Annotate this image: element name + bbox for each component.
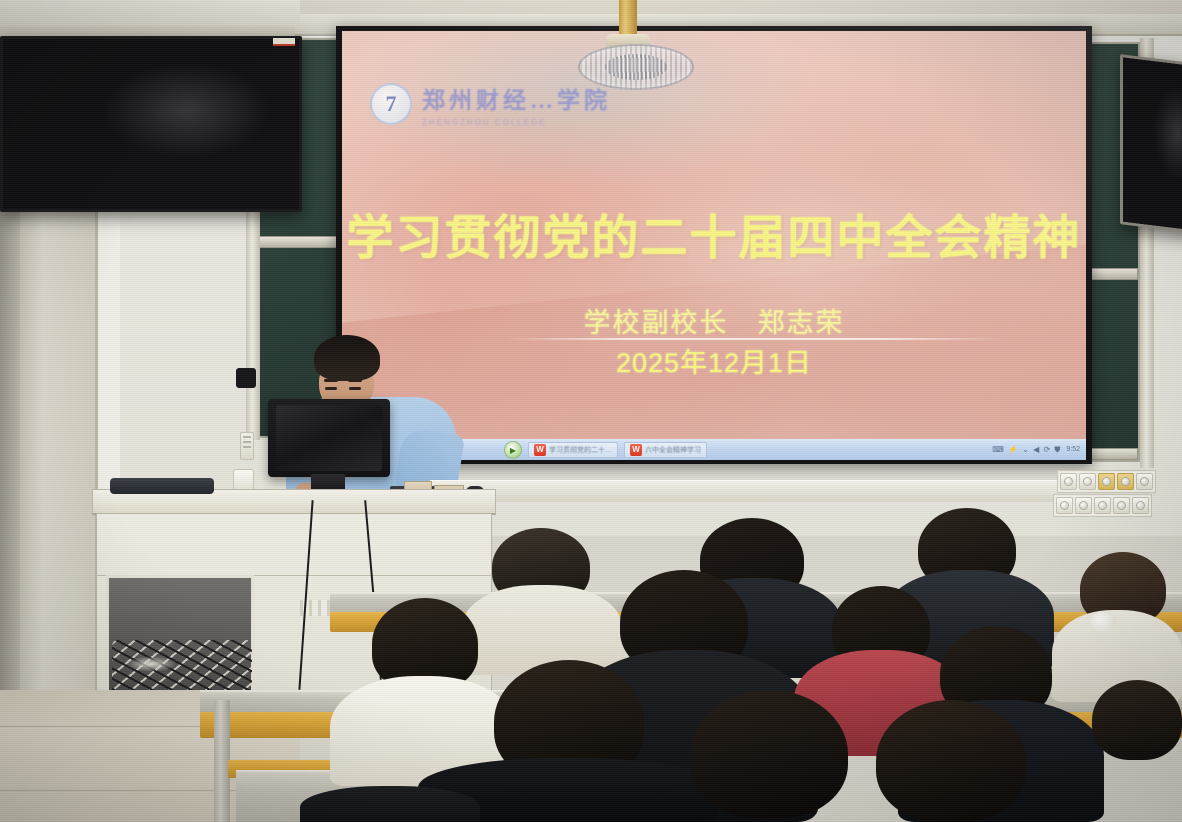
wall-switch[interactable] <box>1098 473 1115 490</box>
presenter-brow-r <box>348 379 362 382</box>
wall-display-left[interactable] <box>0 36 302 212</box>
audience-head <box>1092 680 1182 760</box>
presenter-eye-r <box>349 387 361 390</box>
institution-name-cn: 郑州财经…学院 <box>422 81 611 115</box>
wall-jack-panel[interactable] <box>240 432 254 460</box>
taskbar-clock[interactable]: 9:52 <box>1066 446 1080 454</box>
institution-name-en: ZHENGZHOU COLLEGE <box>422 118 611 127</box>
podium-monitor[interactable] <box>268 399 390 477</box>
wall-switch[interactable] <box>1056 497 1073 514</box>
display-screen <box>1123 58 1182 233</box>
system-tray[interactable]: ⌨ ⚡ ⌄ ◀ ⟳ ⛊ 9:52 <box>992 445 1080 455</box>
presenter-brow-l <box>324 379 338 382</box>
wall-switch-panel-top[interactable] <box>1057 470 1156 493</box>
slide-divider <box>504 338 1004 340</box>
presenter-hair <box>314 335 380 381</box>
chalk-rail-right-lower <box>1090 448 1138 460</box>
wall-switch-panel-bottom[interactable] <box>1053 494 1152 517</box>
wall-switch[interactable] <box>1094 497 1111 514</box>
audience-head <box>690 690 848 818</box>
media-player-icon[interactable]: ▶ <box>504 441 522 459</box>
tray-icons[interactable]: ⌨ ⚡ ⌄ ◀ ⟳ ⛊ <box>992 445 1061 455</box>
display-screen <box>3 39 299 209</box>
wall-switch[interactable] <box>1113 497 1130 514</box>
wall-display-right[interactable] <box>1120 54 1182 236</box>
wps-writer-icon: W <box>630 444 642 456</box>
institution-emblem-icon: 7 <box>370 83 412 125</box>
laptop-bag <box>110 478 214 494</box>
audience-head <box>876 700 1026 822</box>
audience-shoulders <box>462 585 622 675</box>
ceiling-fan-icon <box>578 44 694 90</box>
wall-switch[interactable] <box>1117 473 1134 490</box>
door-frame <box>20 200 98 720</box>
wps-writer-icon: W <box>534 444 546 456</box>
taskbar-item[interactable]: W 六中全会精神学习 <box>624 442 707 458</box>
hair-scrunchie <box>1090 612 1116 632</box>
display-label-tag <box>273 38 295 46</box>
ceiling-beam-left <box>0 0 300 26</box>
slide-logo: 7 郑州财经…学院 ZHENGZHOU COLLEGE <box>370 81 611 127</box>
chalk-rail-right <box>1090 268 1138 280</box>
audience-shoulders <box>300 786 480 822</box>
wall-switch[interactable] <box>1079 473 1096 490</box>
wall-switch[interactable] <box>1075 497 1092 514</box>
presenter-table <box>430 480 1130 502</box>
taskbar-item-label: 六中全会精神学习 <box>645 445 701 455</box>
presenter-eye-l <box>325 387 337 390</box>
wall-speaker-box <box>236 368 256 388</box>
taskbar-item[interactable]: W 学习贯彻党的二十… <box>528 442 618 458</box>
institution-name-block: 郑州财经…学院 ZHENGZHOU COLLEGE <box>422 81 611 127</box>
wall-switch[interactable] <box>1060 473 1077 490</box>
taskbar-item-label: 学习贯彻党的二十… <box>549 445 612 455</box>
slide-title: 学习贯彻党的二十届四中全会精神 <box>342 199 1086 268</box>
wall-switch[interactable] <box>1136 473 1153 490</box>
lecture-hall-photo: 7 郑州财经…学院 ZHENGZHOU COLLEGE 学习贯彻党的二十届四中全… <box>0 0 1182 822</box>
wall-switch[interactable] <box>1132 497 1149 514</box>
